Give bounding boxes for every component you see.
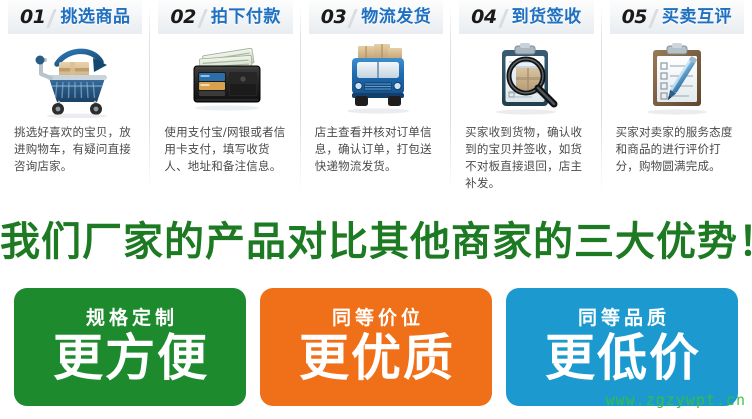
slash-icon (648, 8, 659, 27)
badge-subtitle-2: 同等价位 (328, 309, 424, 328)
step-title-3: 物流发货 (361, 9, 431, 26)
step-panel-2: 02 拍下付款 (150, 0, 300, 210)
shopping-steps-strip: 01 挑选商品 (0, 0, 752, 210)
promo-banner: 01 挑选商品 (0, 0, 752, 419)
step-header-1: 01 挑选商品 (8, 0, 142, 34)
step-description-3: 店主查看并核对订单信息，确认订单，打包送快递物流发货。 (309, 124, 443, 175)
badge-main-1: 更方便 (51, 332, 209, 385)
slash-icon (197, 8, 208, 27)
step-description-5: 买家对卖家的服务态度和商品的进行评价打分，购物圆满完成。 (610, 124, 744, 175)
advantage-badge-quality: 同等价位 更优质 (260, 288, 492, 406)
step-number-3: 03 (321, 8, 346, 27)
step-panel-5: 05 买卖互评 (602, 0, 752, 210)
advantage-badge-customization: 规格定制 更方便 (14, 288, 246, 406)
badge-subtitle-1: 规格定制 (82, 309, 178, 328)
step-title-4: 到货签收 (512, 9, 582, 26)
step-panel-3: 03 物流发货 (301, 0, 451, 210)
step-title-2: 拍下付款 (211, 9, 281, 26)
step-description-1: 挑选好喜欢的宝贝，放进购物车，有疑问直接咨询店家。 (8, 124, 142, 175)
step-panel-1: 01 挑选商品 (0, 0, 150, 210)
delivery-truck-icon (309, 36, 443, 120)
clipboard-magnifier-icon (459, 36, 593, 120)
step-number-2: 02 (170, 8, 195, 27)
slash-icon (46, 8, 57, 27)
step-description-2: 使用支付宝/网银或者信用卡支付，填写收货人、地址和备注信息。 (158, 124, 292, 175)
step-title-1: 挑选商品 (60, 9, 130, 26)
badge-main-2: 更优质 (297, 332, 455, 385)
site-watermark: www.zgzywpt.cn (606, 391, 746, 409)
slash-icon (347, 8, 358, 27)
clipboard-pen-icon (610, 36, 744, 120)
badge-subtitle-3: 同等品质 (574, 309, 670, 328)
step-number-1: 01 (20, 8, 45, 27)
slash-icon (498, 8, 509, 27)
step-panel-4: 04 到货签收 (451, 0, 601, 210)
step-number-5: 05 (622, 8, 647, 27)
step-header-4: 04 到货签收 (459, 0, 593, 34)
shopping-cart-icon (8, 36, 142, 120)
step-header-3: 03 物流发货 (309, 0, 443, 34)
step-number-4: 04 (471, 8, 496, 27)
wallet-icon (158, 36, 292, 120)
advantages-headline: 我们厂家的产品对比其他商家的三大优势！ (0, 222, 752, 262)
step-title-5: 买卖互评 (662, 9, 732, 26)
step-header-2: 02 拍下付款 (158, 0, 292, 34)
step-description-4: 买家收到货物，确认收到的宝贝并签收，如货不对板直接退回，店主补发。 (459, 124, 593, 192)
step-header-5: 05 买卖互评 (610, 0, 744, 34)
badge-main-3: 更低价 (543, 332, 701, 385)
advantage-badge-price: 同等品质 更低价 (506, 288, 738, 406)
